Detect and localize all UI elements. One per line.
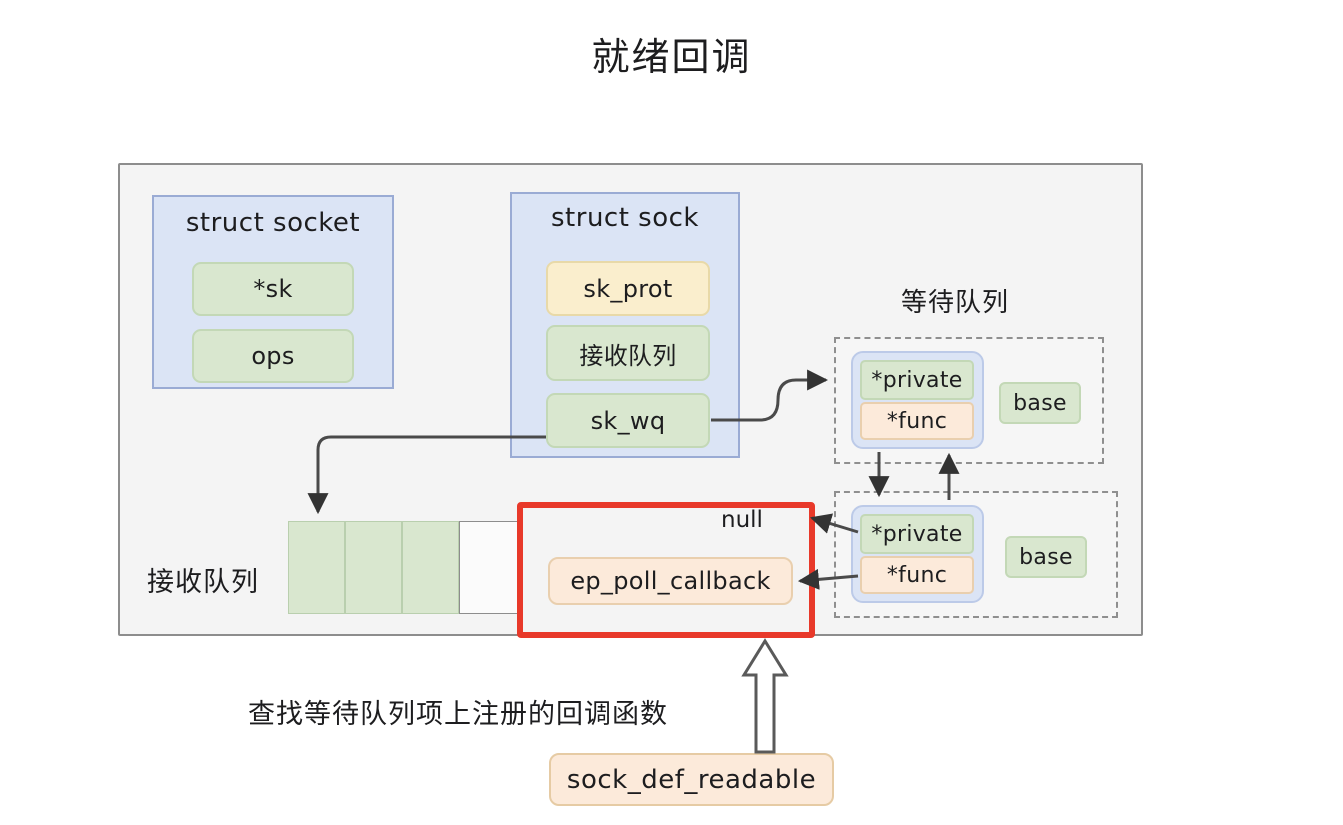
sock-field-sk-prot: sk_prot — [546, 261, 710, 316]
wq1-field-func: *func — [860, 402, 974, 440]
receive-queue-cell — [459, 521, 519, 614]
receive-queue-cell — [402, 521, 459, 614]
bottom-caption: 查找等待队列项上注册的回调函数 — [248, 692, 668, 731]
ep-poll-callback-node: ep_poll_callback — [548, 557, 793, 605]
wq1-field-private: *private — [860, 360, 974, 400]
socket-field-ops: ops — [192, 329, 354, 383]
wq2-field-base: base — [1005, 536, 1087, 578]
receive-queue-cell — [288, 521, 345, 614]
null-label: null — [721, 507, 763, 533]
socket-field-sk: *sk — [192, 262, 354, 316]
sock-def-readable-node: sock_def_readable — [549, 753, 834, 806]
sock-field-receive-queue: 接收队列 — [546, 325, 710, 381]
sock-field-sk-wq: sk_wq — [546, 393, 710, 448]
wq2-field-func: *func — [860, 556, 974, 594]
wq1-field-base: base — [999, 382, 1081, 424]
struct-socket-title: struct socket — [152, 208, 394, 238]
block-arrow-sockdefreadable — [744, 641, 786, 752]
struct-sock-title: struct sock — [510, 203, 740, 233]
wq2-field-private: *private — [860, 514, 974, 554]
receive-queue-cell — [345, 521, 402, 614]
wait-queue-title: 等待队列 — [901, 282, 1009, 319]
page-title: 就绪回调 — [0, 26, 1343, 81]
receive-queue-label: 接收队列 — [147, 560, 259, 599]
receive-queue-track — [288, 521, 519, 614]
diagram-canvas: 就绪回调 struct socket *sk ops struct sock s… — [0, 0, 1343, 825]
